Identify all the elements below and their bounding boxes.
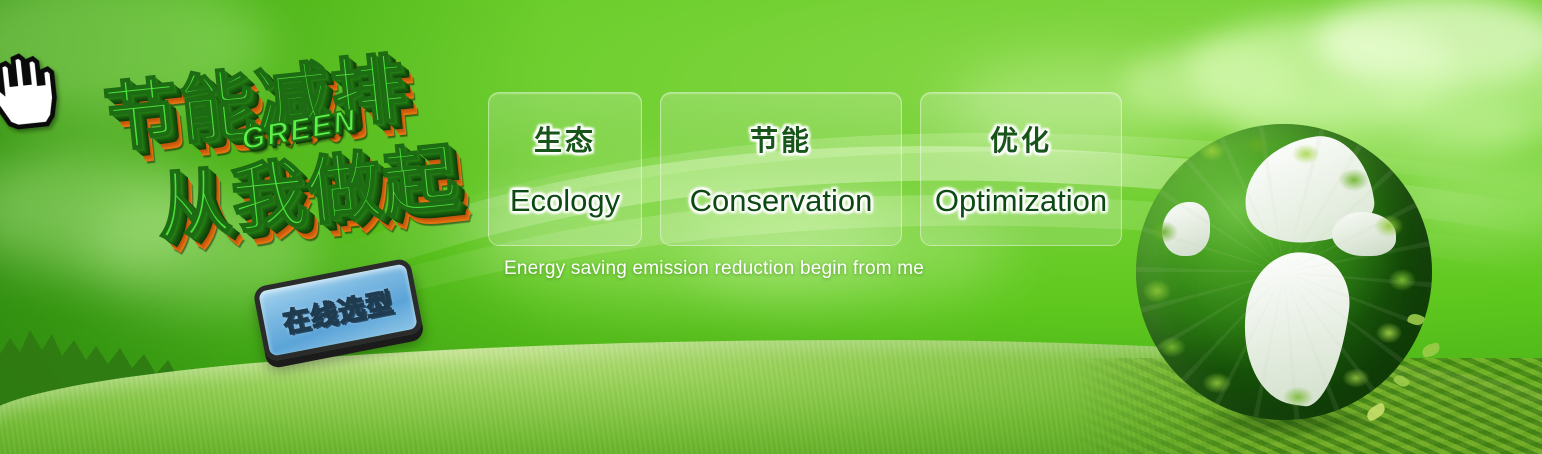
- feature-card-cn-label: 优化: [990, 119, 1052, 159]
- eco-banner: 节能减排 从我做起 GREEN 在线选型 生态 Ecology: [0, 0, 1542, 454]
- online-selection-label: 在线选型: [279, 280, 396, 340]
- feature-card-en-label: Ecology: [510, 183, 620, 219]
- leafy-globe-illustration: [1122, 118, 1452, 436]
- feature-card-en-label: Conservation: [690, 183, 873, 219]
- banner-tagline: Energy saving emission reduction begin f…: [504, 258, 924, 280]
- feature-card-optimization[interactable]: 优化 Optimization: [920, 92, 1122, 246]
- feature-card-ecology[interactable]: 生态 Ecology: [488, 92, 642, 246]
- feature-card-en-label: Optimization: [935, 183, 1107, 219]
- falling-leaf-icon: [1421, 342, 1441, 358]
- globe-sphere: [1136, 124, 1432, 420]
- feature-card-conservation[interactable]: 节能 Conservation: [660, 92, 902, 246]
- feature-card-row: 生态 Ecology 节能 Conservation 优化 Optimizati…: [488, 92, 1122, 246]
- falling-leaf-icon: [1393, 372, 1411, 389]
- feature-card-cn-label: 节能: [750, 119, 812, 159]
- hero-logo: 节能减排 从我做起 GREEN: [84, 14, 508, 304]
- globe-ivy-leaves: [1136, 124, 1432, 420]
- feature-card-cn-label: 生态: [534, 119, 596, 159]
